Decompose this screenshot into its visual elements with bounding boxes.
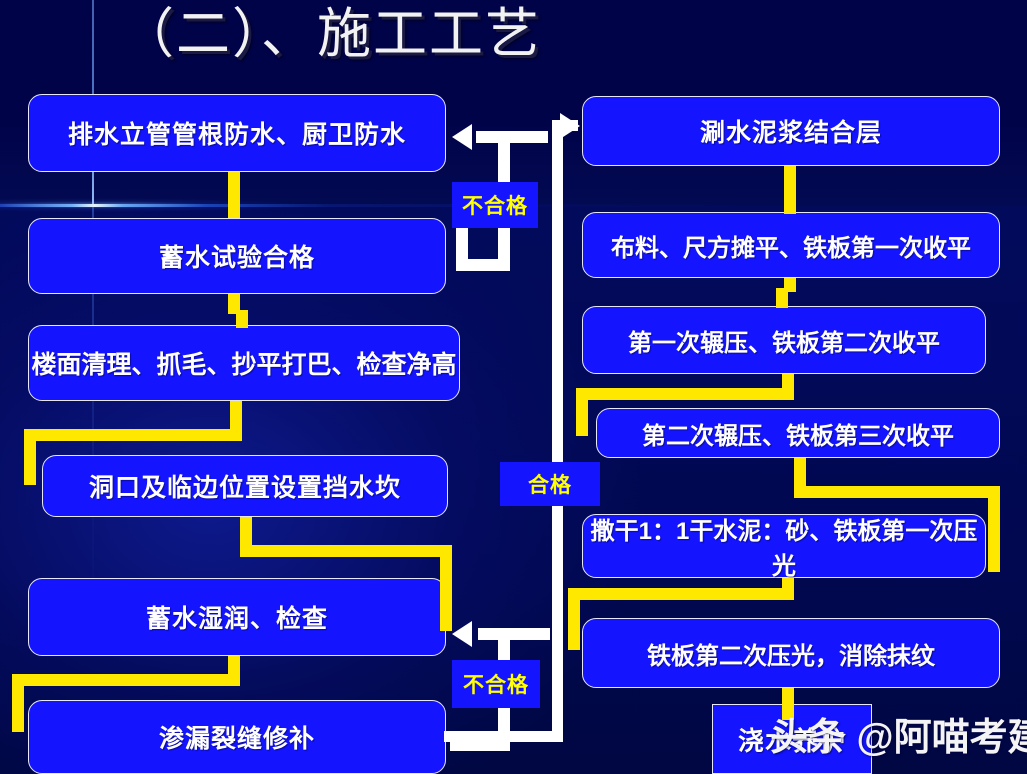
box-floor-clean-roughen[interactable]: 楼面清理、抓毛、抄平打巴、检查净高 <box>28 325 460 401</box>
connector-right-5-6-horiz <box>568 588 794 600</box>
box-water-storage-test-pass[interactable]: 蓄水试验合格 <box>28 218 446 294</box>
connector-right-3-4-drop <box>576 388 588 436</box>
connector-right-4-5-drop <box>988 486 1000 572</box>
page-title: （二）、施工工艺 <box>120 2 640 70</box>
connector-right-1-2 <box>784 166 796 214</box>
box-dry-cement-sand-first-polish[interactable]: 撒干1：1干水泥：砂、铁板第一次压光 <box>582 514 986 578</box>
connector-right-2-3b <box>776 288 788 308</box>
box-spread-level-first-finish[interactable]: 布料、尺方摊平、铁板第一次收平 <box>582 212 1000 278</box>
feedback-bottom-horizontal <box>478 628 550 640</box>
connector-left-5-6-drop <box>12 674 24 732</box>
label-fail-bottom: 不合格 <box>452 660 540 708</box>
box-second-roll-third-finish[interactable]: 第二次辗压、铁板第三次收平 <box>596 408 1000 458</box>
watermark-text: 头条 @阿喵考建工 <box>770 706 1027 761</box>
connector-left-1-2 <box>228 172 240 218</box>
connector-right-4-5-horiz <box>794 486 1000 498</box>
feedback-bottom-arrow-icon <box>452 621 472 647</box>
label-fail-top: 不合格 <box>452 182 538 228</box>
feedback-top-horizontal <box>476 131 548 143</box>
box-cement-slurry-bond-layer[interactable]: 涮水泥浆结合层 <box>582 96 1000 166</box>
box-opening-edge-water-stop[interactable]: 洞口及临边位置设置挡水坎 <box>42 455 448 517</box>
pass-arrow-icon <box>560 113 580 139</box>
box-first-roll-second-finish[interactable]: 第一次辗压、铁板第二次收平 <box>582 306 986 374</box>
box-water-storage-wet-check[interactable]: 蓄水湿润、检查 <box>28 578 446 656</box>
pass-vertical-line <box>552 120 563 742</box>
feedback-top-arrow-icon <box>452 124 472 150</box>
connector-left-4-5-drop <box>440 545 452 631</box>
connector-right-3-4-horiz <box>576 388 794 400</box>
connector-left-3-4-drop <box>24 429 36 485</box>
feedback-top-riser <box>456 225 468 271</box>
connector-left-3-4-horiz <box>24 429 242 441</box>
slide-canvas: （二）、施工工艺 排水立管管根防水、厨卫防水 蓄水试验合格 楼面清理、抓毛、抄平… <box>0 0 1027 774</box>
label-pass: 合格 <box>500 462 600 506</box>
box-drain-pipe-root-waterproof[interactable]: 排水立管管根防水、厨卫防水 <box>28 94 446 172</box>
feedback-bottom-foot <box>450 740 510 751</box>
connector-left-5-6-horiz <box>12 674 240 686</box>
connector-left-2-3b <box>236 310 248 328</box>
connector-right-5-6-drop <box>568 588 580 650</box>
box-second-polish-remove-marks[interactable]: 铁板第二次压光，消除抹纹 <box>582 618 1000 688</box>
box-leak-crack-repair[interactable]: 渗漏裂缝修补 <box>28 700 446 774</box>
connector-left-4-5-horiz <box>240 545 452 557</box>
